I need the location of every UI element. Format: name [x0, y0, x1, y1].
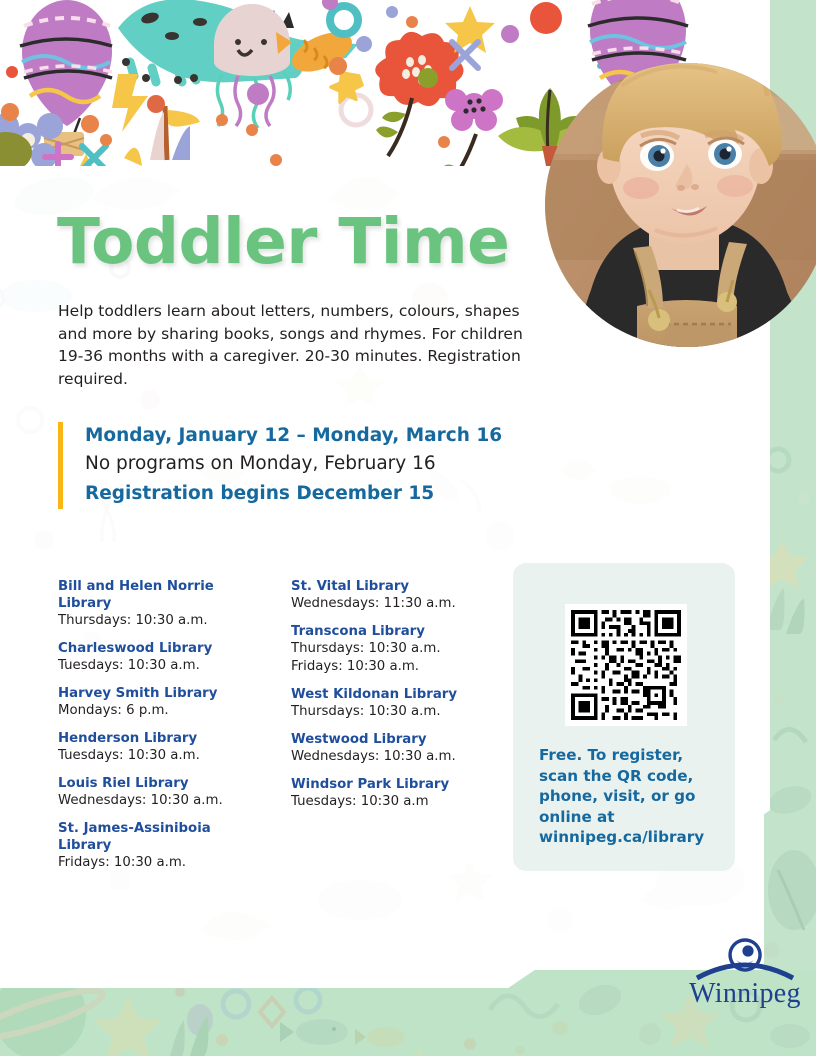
library-entry: Bill and Helen Norrie LibraryThursdays: … — [58, 578, 255, 630]
library-column-left: Bill and Helen Norrie LibraryThursdays: … — [58, 578, 255, 882]
library-name: Westwood Library — [291, 731, 488, 748]
library-time: Thursdays: 10:30 a.m. — [291, 640, 488, 658]
library-entry: St. Vital LibraryWednesdays: 11:30 a.m. — [291, 578, 488, 613]
library-entry: Charleswood LibraryTuesdays: 10:30 a.m. — [58, 640, 255, 675]
winnipeg-logo-icon — [689, 938, 801, 982]
library-entry: Westwood LibraryWednesdays: 10:30 a.m. — [291, 731, 488, 766]
library-time: Wednesdays: 11:30 a.m. — [291, 595, 488, 613]
library-entry: Harvey Smith LibraryMondays: 6 p.m. — [58, 685, 255, 720]
logo-wordmark: Winnipeg — [689, 978, 801, 1010]
library-time: Fridays: 10:30 a.m. — [291, 658, 488, 676]
library-time: Tuesdays: 10:30 a.m. — [58, 657, 255, 675]
library-column-right: St. Vital LibraryWednesdays: 11:30 a.m.T… — [291, 578, 488, 882]
library-entry: St. James-Assiniboia LibraryFridays: 10:… — [58, 820, 255, 872]
qr-card: Free. To register, scan the QR code, pho… — [513, 563, 735, 871]
description-text: Help toddlers learn about letters, numbe… — [58, 300, 528, 390]
qr-code-icon — [571, 610, 681, 720]
library-name: Windsor Park Library — [291, 776, 488, 793]
poster: Toddler Time Help toddlers learn about l… — [0, 0, 816, 1056]
library-time: Tuesdays: 10:30 a.m. — [58, 747, 255, 765]
library-name: Henderson Library — [58, 730, 255, 747]
library-entry: West Kildonan LibraryThursdays: 10:30 a.… — [291, 686, 488, 721]
library-name: Transcona Library — [291, 623, 488, 640]
page-title: Toddler Time — [57, 210, 509, 273]
library-entry: Henderson LibraryTuesdays: 10:30 a.m. — [58, 730, 255, 765]
library-listings: Bill and Helen Norrie LibraryThursdays: … — [58, 578, 488, 882]
registration-date: Registration begins December 15 — [85, 479, 502, 509]
library-name: Harvey Smith Library — [58, 685, 255, 702]
library-entry: Windsor Park LibraryTuesdays: 10:30 a.m — [291, 776, 488, 811]
winnipeg-logo: Winnipeg — [689, 938, 801, 1014]
library-name: Charleswood Library — [58, 640, 255, 657]
library-time: Wednesdays: 10:30 a.m. — [291, 748, 488, 766]
library-name: Bill and Helen Norrie Library — [58, 578, 255, 612]
date-range: Monday, January 12 – Monday, March 16 — [85, 422, 502, 449]
library-time: Tuesdays: 10:30 a.m — [291, 793, 488, 811]
library-time: Wednesdays: 10:30 a.m. — [58, 792, 255, 810]
library-name: St. James-Assiniboia Library — [58, 820, 255, 854]
library-name: West Kildonan Library — [291, 686, 488, 703]
library-time: Fridays: 10:30 a.m. — [58, 854, 255, 872]
library-time: Mondays: 6 p.m. — [58, 702, 255, 720]
library-entry: Transcona LibraryThursdays: 10:30 a.m.Fr… — [291, 623, 488, 675]
dates-block: Monday, January 12 – Monday, March 16 No… — [58, 422, 502, 509]
library-time: Thursdays: 10:30 a.m. — [291, 703, 488, 721]
date-exception: No programs on Monday, February 16 — [85, 449, 502, 479]
library-name: St. Vital Library — [291, 578, 488, 595]
right-panel-pattern — [764, 420, 816, 980]
qr-code[interactable] — [565, 604, 687, 726]
library-name: Louis Riel Library — [58, 775, 255, 792]
library-time: Thursdays: 10:30 a.m. — [58, 612, 255, 630]
qr-instructions: Free. To register, scan the QR code, pho… — [539, 745, 719, 848]
library-entry: Louis Riel LibraryWednesdays: 10:30 a.m. — [58, 775, 255, 810]
